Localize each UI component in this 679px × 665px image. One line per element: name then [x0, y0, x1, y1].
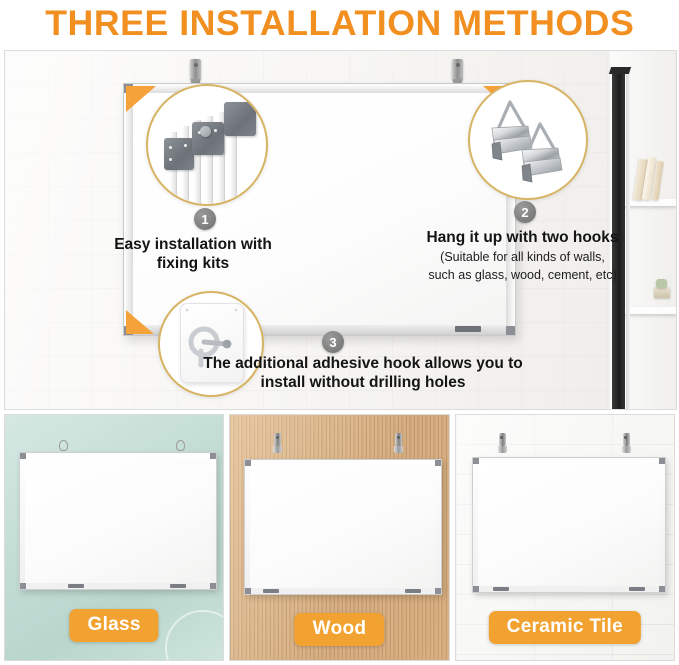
- mini-frame-corner: [659, 458, 665, 464]
- mini-frame-corner: [659, 586, 665, 592]
- caption-2-sub1: (Suitable for all kinds of walls,: [375, 249, 670, 265]
- main-scene: 1 Easy installation with fixing kits: [4, 50, 677, 410]
- step-badge-1: 1: [194, 208, 216, 230]
- hook-ring: [176, 440, 185, 451]
- hooks-svg: [470, 82, 586, 198]
- wall-hook-left: [190, 59, 201, 85]
- mini-frame-corner: [473, 458, 479, 464]
- mini-frame-corner: [20, 453, 26, 459]
- surface-panels: Glass Wood: [4, 414, 675, 661]
- mini-marker-tray: [405, 589, 421, 593]
- mini-frame-corner: [245, 460, 251, 466]
- glass-hook-left: [58, 440, 67, 451]
- hook-screw: [456, 63, 460, 67]
- step-badge-3: 3: [322, 331, 344, 353]
- mini-marker-tray: [263, 589, 279, 593]
- page-title: THREE INSTALLATION METHODS: [45, 4, 634, 44]
- hook-ring: [59, 440, 68, 451]
- mini-whiteboard-glass: [19, 452, 217, 590]
- tile-hook-right: [622, 433, 631, 453]
- surface-label-glass: Glass: [70, 609, 159, 642]
- surface-panel-wood: Wood: [229, 414, 449, 661]
- mini-frame-corner: [435, 588, 441, 594]
- frame-corner: [506, 326, 515, 335]
- title-bar: THREE INSTALLATION METHODS: [0, 0, 679, 48]
- hook-plate: [395, 433, 402, 446]
- caption-2-line1: Hang it up with two hooks: [375, 228, 670, 247]
- mini-whiteboard-surface: [25, 458, 211, 583]
- hook-tip: [622, 446, 631, 453]
- step-badge-2: 2: [514, 201, 536, 223]
- hook-tip: [394, 446, 403, 453]
- callout-circle-1: [146, 84, 268, 206]
- surface-label-wood: Wood: [295, 613, 385, 646]
- mini-whiteboard-surface: [250, 465, 436, 588]
- caption-1-line1: Easy installation with: [43, 235, 343, 254]
- mini-whiteboard-tile: [472, 457, 666, 593]
- hook-plate: [499, 433, 506, 446]
- mini-marker-tray: [170, 584, 186, 588]
- caption-3-line1: The additional adhesive hook allows you …: [153, 354, 573, 373]
- hook-plate: [623, 433, 630, 446]
- shelf-plank: [622, 307, 676, 314]
- mini-marker-tray: [68, 584, 84, 588]
- glass-hook-right: [175, 440, 184, 451]
- mini-frame-corner: [210, 583, 216, 589]
- mini-whiteboard-surface: [478, 463, 660, 586]
- callout-circle-2: [468, 80, 588, 200]
- tile-hook-left: [498, 433, 507, 453]
- mini-marker-tray: [629, 587, 645, 591]
- wall-hook-right: [452, 59, 463, 85]
- hook-screw: [276, 436, 279, 439]
- mini-frame-corner: [245, 588, 251, 594]
- mini-frame-corner: [473, 586, 479, 592]
- marker-tray: [455, 326, 481, 332]
- mini-marker-tray: [493, 587, 509, 591]
- wood-hook-right: [394, 433, 403, 453]
- caption-3: The additional adhesive hook allows you …: [153, 354, 573, 393]
- book: [654, 287, 670, 298]
- caption-2-sub2: such as glass, wood, cement, etc): [375, 267, 670, 283]
- surface-label-ceramic-tile: Ceramic Tile: [489, 611, 641, 644]
- metal-hanging-hooks-icon: [470, 82, 586, 198]
- hook-tip: [273, 446, 282, 453]
- hook-tip: [498, 446, 507, 453]
- fixing-kit-brackets-icon: [148, 86, 266, 204]
- pointer-triangle-3: [126, 310, 154, 334]
- mini-frame-corner: [20, 583, 26, 589]
- caption-3-line2: install without drilling holes: [153, 373, 573, 392]
- hook-screw: [194, 63, 198, 67]
- surface-panel-glass: Glass: [4, 414, 224, 661]
- mini-frame-corner: [210, 453, 216, 459]
- caption-1: Easy installation with fixing kits: [43, 235, 343, 274]
- hook-plate: [274, 433, 281, 446]
- infographic-page: THREE INSTALLATION METHODS: [0, 0, 679, 665]
- caption-2: Hang it up with two hooks (Suitable for …: [375, 228, 670, 283]
- surface-panel-ceramic-tile: Ceramic Tile: [455, 414, 675, 661]
- mini-frame-corner: [435, 460, 441, 466]
- frame-rail-left: [124, 84, 133, 335]
- hook-screw: [397, 436, 400, 439]
- shelf-post-cap: [609, 67, 631, 74]
- wood-hook-left: [273, 433, 282, 453]
- mini-whiteboard-wood: [244, 459, 442, 595]
- caption-1-line2: fixing kits: [43, 254, 343, 273]
